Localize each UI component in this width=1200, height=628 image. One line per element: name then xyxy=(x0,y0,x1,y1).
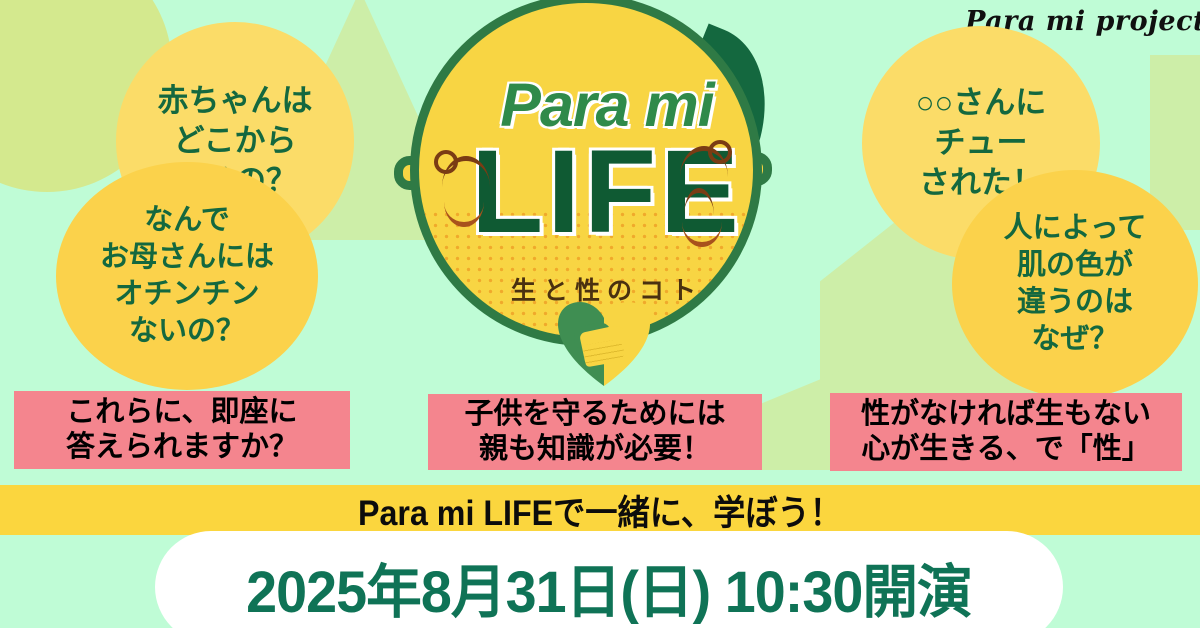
banner-parents-knowledge-text: 子供を守るためには 親も知識が必要！ xyxy=(464,397,725,468)
banner-parents-knowledge: 子供を守るためには 親も知識が必要！ xyxy=(428,394,762,470)
bubble-mother-anatomy: なんで お母さんには オチンチン ないの？ xyxy=(56,162,318,390)
heart-handshake-icon xyxy=(558,302,650,386)
event-date-text: 2025年8月31日(日) 10:30開演 xyxy=(246,545,972,628)
banner-sei-meaning-text: 性がなければ生もない 心が生きる、で「性」 xyxy=(861,397,1151,468)
event-date-pill: 2025年8月31日(日) 10:30開演 xyxy=(155,531,1063,628)
lemon-face-right xyxy=(688,166,722,192)
banner-sei-meaning: 性がなければ生もない 心が生きる、で「性」 xyxy=(830,393,1182,471)
promo-poster: Para mi project Para mi LIFE 生と性のコト xyxy=(0,0,1200,628)
callout-band: Para mi LIFEで一緒に、学ぼう！ xyxy=(0,485,1200,535)
banner-answer-now: これらに、即座に 答えられますか？ xyxy=(14,391,350,469)
bubble-skin-color-text: 人によって 肌の色が 違うのは なぜ？ xyxy=(959,210,1190,358)
lemon-mascot-icon: Para mi LIFE 生と性のコト xyxy=(398,0,788,369)
lemon-face-left xyxy=(428,172,462,198)
bubble-skin-color: 人によって 肌の色が 違うのは なぜ？ xyxy=(952,170,1198,398)
callout-band-text: Para mi LIFEで一緒に、学ぼう！ xyxy=(358,485,842,536)
bubble-mother-anatomy-text: なんで お母さんには オチンチン ないの？ xyxy=(64,202,310,350)
banner-answer-now-text: これらに、即座に 答えられますか？ xyxy=(66,395,298,466)
